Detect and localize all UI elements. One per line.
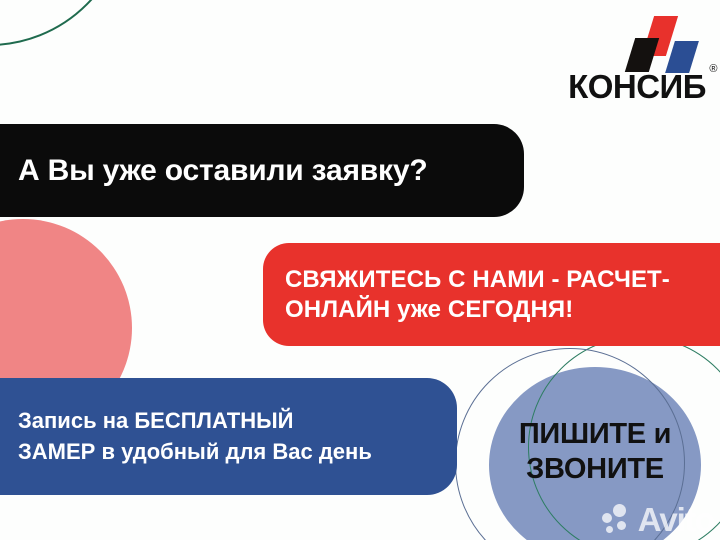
measure-line-1: Запись на БЕСПЛАТНЫЙ	[18, 408, 293, 433]
contact-line-2-uzhe: уже	[397, 296, 441, 323]
contact-line-2-today: СЕГОДНЯ!	[448, 296, 573, 323]
logo-wordmark-text: КОНСИБ	[568, 68, 706, 105]
callout-line-1: ПИШИТЕ и	[519, 417, 671, 452]
contact-banner: СВЯЖИТЕСЬ С НАМИ - РАСЧЕТ- ОНЛАЙН уже СЕ…	[263, 243, 720, 346]
brand-logo: КОНСИБ ®	[566, 16, 706, 103]
measure-banner-text: Запись на БЕСПЛАТНЫЙ ЗАМЕР в удобный для…	[18, 406, 372, 468]
avito-dots-icon	[602, 504, 636, 536]
logo-marks	[610, 16, 706, 68]
avito-watermark-text: Avito	[638, 503, 714, 536]
contact-line-1: СВЯЖИТЕСЬ С НАМИ - РАСЧЕТ-	[285, 266, 670, 293]
avito-watermark: Avito	[602, 503, 714, 536]
contact-line-2-online: ОНЛАЙН	[285, 296, 390, 323]
measure-line-2: ЗАМЕР в удобный для Вас день	[18, 439, 372, 464]
logo-wordmark: КОНСИБ ®	[568, 70, 706, 103]
question-banner: А Вы уже оставили заявку?	[0, 124, 524, 217]
decorative-ring-green-top-left	[0, 0, 128, 46]
callout-line-2: ЗВОНИТЕ	[526, 452, 664, 487]
contact-banner-text: СВЯЖИТЕСЬ С НАМИ - РАСЧЕТ- ОНЛАЙН уже СЕ…	[285, 265, 670, 324]
promo-banner: КОНСИБ ® А Вы уже оставили заявку? СВЯЖИ…	[0, 0, 720, 540]
registered-trademark-icon: ®	[709, 64, 717, 75]
measure-banner: Запись на БЕСПЛАТНЫЙ ЗАМЕР в удобный для…	[0, 378, 457, 495]
question-banner-text: А Вы уже оставили заявку?	[18, 154, 427, 187]
